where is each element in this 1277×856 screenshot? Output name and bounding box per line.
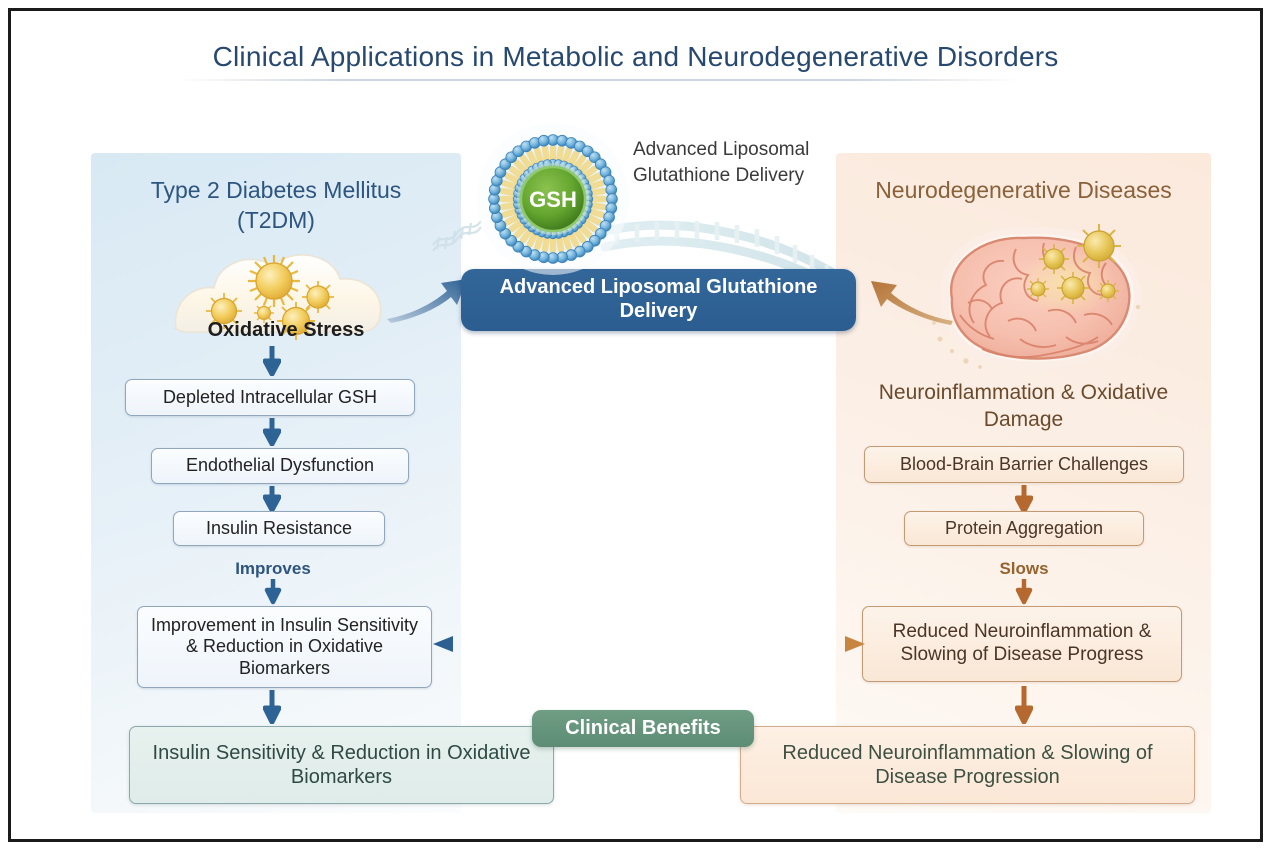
arrow-down-to-left-benefit [263, 690, 281, 724]
box-benefit-reduced-neuroinflammation[interactable]: Reduced Neuroinflammation & Slowing of D… [740, 726, 1195, 804]
connector-label-improves: Improves [193, 559, 353, 579]
title-divider [176, 79, 1021, 81]
clinical-benefits-label: Clinical Benefits [565, 717, 721, 740]
right-panel-heading: Neurodegenerative Diseases [836, 175, 1211, 205]
box-label: Reduced Neuroinflammation & Slowing of D… [873, 621, 1171, 667]
arrow-down-to-insulin-resistance [263, 486, 281, 512]
box-blood-brain-barrier-challenges[interactable]: Blood-Brain Barrier Challenges [864, 446, 1184, 483]
arrow-down-to-right-benefit [1015, 686, 1033, 724]
arrow-down-to-endothelial-dysfunction [263, 418, 281, 446]
box-reduced-neuroinflammation-progress[interactable]: Reduced Neuroinflammation & Slowing of D… [862, 606, 1182, 682]
neuroinflammation-label: Neuroinflammation & Oxidative Damage [866, 379, 1181, 433]
arrow-down-to-protein-aggregation [1015, 485, 1033, 513]
box-benefit-insulin-sensitivity[interactable]: Insulin Sensitivity & Reduction in Oxida… [129, 726, 554, 804]
box-label: Endothelial Dysfunction [186, 455, 374, 477]
diagram-frame: Clinical Applications in Metabolic and N… [8, 8, 1263, 842]
box-improvement-insulin-sensitivity[interactable]: Improvement in Insulin Sensitivity & Red… [137, 606, 432, 688]
left-panel-heading-line2: (T2DM) [237, 207, 315, 233]
arrow-down-to-improvement-outcome [264, 579, 282, 605]
liposome-caption: Advanced Liposomal Glutathione Delivery [633, 137, 863, 189]
box-protein-aggregation[interactable]: Protein Aggregation [904, 511, 1144, 546]
box-label: Improvement in Insulin Sensitivity & Red… [148, 615, 421, 680]
neuroinflammation-label-text: Neuroinflammation & Oxidative Damage [879, 381, 1168, 431]
box-label: Depleted Intracellular GSH [163, 387, 377, 409]
box-label: Protein Aggregation [945, 518, 1103, 540]
oxidative-stress-label: Oxidative Stress [161, 319, 411, 342]
arrow-down-to-reduced-neuroinflammation [1015, 579, 1033, 605]
connector-label-slows: Slows [951, 559, 1097, 579]
box-label: Reduced Neuroinflammation & Slowing of D… [753, 741, 1182, 789]
liposome-illustration: GSH [473, 119, 633, 279]
page-title: Clinical Applications in Metabolic and N… [11, 41, 1260, 73]
box-depleted-intracellular-gsh[interactable]: Depleted Intracellular GSH [125, 379, 415, 416]
diagram-canvas: Clinical Applications in Metabolic and N… [11, 11, 1260, 839]
left-panel-heading: Type 2 Diabetes Mellitus (T2DM) [91, 175, 461, 235]
box-endothelial-dysfunction[interactable]: Endothelial Dysfunction [151, 448, 409, 484]
gsh-core-label: GSH [529, 187, 577, 212]
arrow-down-to-depleted-gsh [263, 346, 281, 376]
box-insulin-resistance[interactable]: Insulin Resistance [173, 511, 385, 546]
box-label: Blood-Brain Barrier Challenges [900, 454, 1148, 476]
bidirectional-link-arrow [429, 631, 869, 657]
clinical-benefits-pill[interactable]: Clinical Benefits [532, 710, 754, 747]
brain-illustration [916, 211, 1166, 381]
box-label: Insulin Resistance [206, 518, 352, 540]
banner-label: Advanced Liposomal Glutathione Delivery [461, 276, 856, 323]
left-panel-heading-line1: Type 2 Diabetes Mellitus [151, 177, 402, 203]
box-label: Insulin Sensitivity & Reduction in Oxida… [142, 741, 541, 789]
